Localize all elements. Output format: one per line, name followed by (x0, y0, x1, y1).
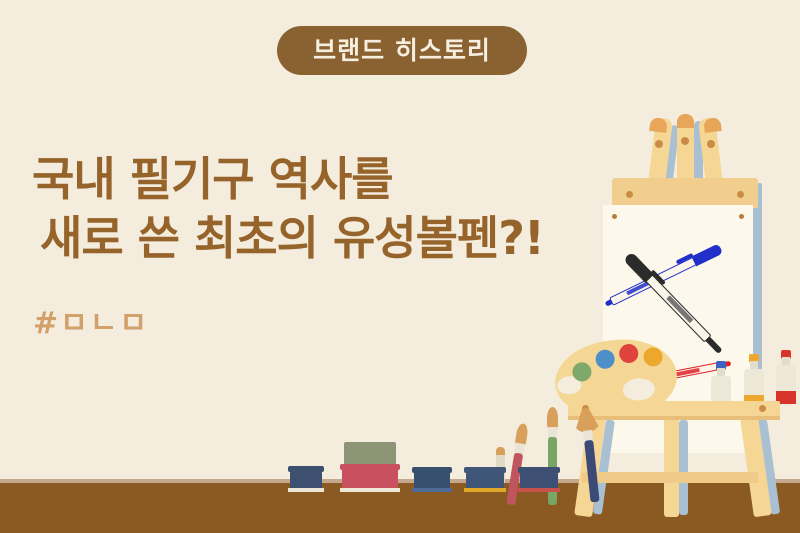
easel-lower-shadow-center (679, 420, 688, 515)
paint-box-red-base (340, 488, 400, 492)
paintbrush-green-bristle (547, 407, 558, 429)
hashtag-label: #ㅁㄴㅁ (33, 309, 149, 339)
paint-box-group (290, 448, 500, 488)
paint-box-navy-2-lid (412, 467, 452, 473)
paint-box-navy-4-lid (518, 467, 560, 473)
headline: 국내 필기구 역사를 새로 쓴 최초의 유성볼펜?! (32, 150, 632, 268)
palette-thumb-hole (622, 377, 655, 401)
easel-screw-left (655, 140, 663, 148)
paint-box-navy-1-base (288, 488, 324, 492)
canvas-pin-top-left (612, 214, 617, 219)
palette-dab-red (619, 343, 639, 363)
shelf-screw-right (759, 405, 766, 412)
easel-screw-right (707, 140, 715, 148)
easel-lower-leg-center (664, 417, 679, 517)
paint-box-navy-3-lid (464, 467, 506, 473)
easel-screw-center (681, 137, 689, 145)
paint-box-navy-4 (520, 472, 558, 488)
paint-box-red-lid (340, 464, 400, 470)
paint-box-red (342, 469, 398, 488)
paint-box-navy-3-base (464, 488, 506, 492)
headline-line-1: 국내 필기구 역사를 (32, 150, 632, 209)
palette-dab-blue (595, 349, 615, 369)
easel-leg-cap-right (703, 117, 722, 133)
crossbar-screw-left (626, 191, 633, 198)
canvas-pin-top-right (739, 214, 744, 219)
paint-box-navy-1 (290, 471, 322, 488)
easel-leg-cap-center (677, 114, 694, 128)
easel-lower-rail (582, 472, 758, 483)
paint-box-navy-4-base (518, 488, 560, 492)
paint-box-navy-2 (414, 472, 450, 488)
headline-line-2: 새로 쓴 최초의 유성볼펜?! (40, 209, 632, 268)
paint-box-navy-2-base (412, 488, 452, 492)
category-badge[interactable]: 브랜드 히스토리 (277, 26, 527, 75)
paint-box-navy-3 (466, 472, 504, 488)
paint-box-red-tray (344, 442, 396, 466)
paint-box-navy-1-lid (288, 466, 324, 472)
palette-dab-green (572, 362, 592, 382)
poster-canvas: 브랜드 히스토리 국내 필기구 역사를 새로 쓴 최초의 유성볼펜?! #ㅁㄴㅁ (0, 0, 800, 533)
bottle-body-red (776, 365, 796, 405)
palette-dab-orange (643, 347, 663, 367)
category-badge-label: 브랜드 히스토리 (313, 38, 491, 63)
crossbar-screw-right (737, 191, 744, 198)
